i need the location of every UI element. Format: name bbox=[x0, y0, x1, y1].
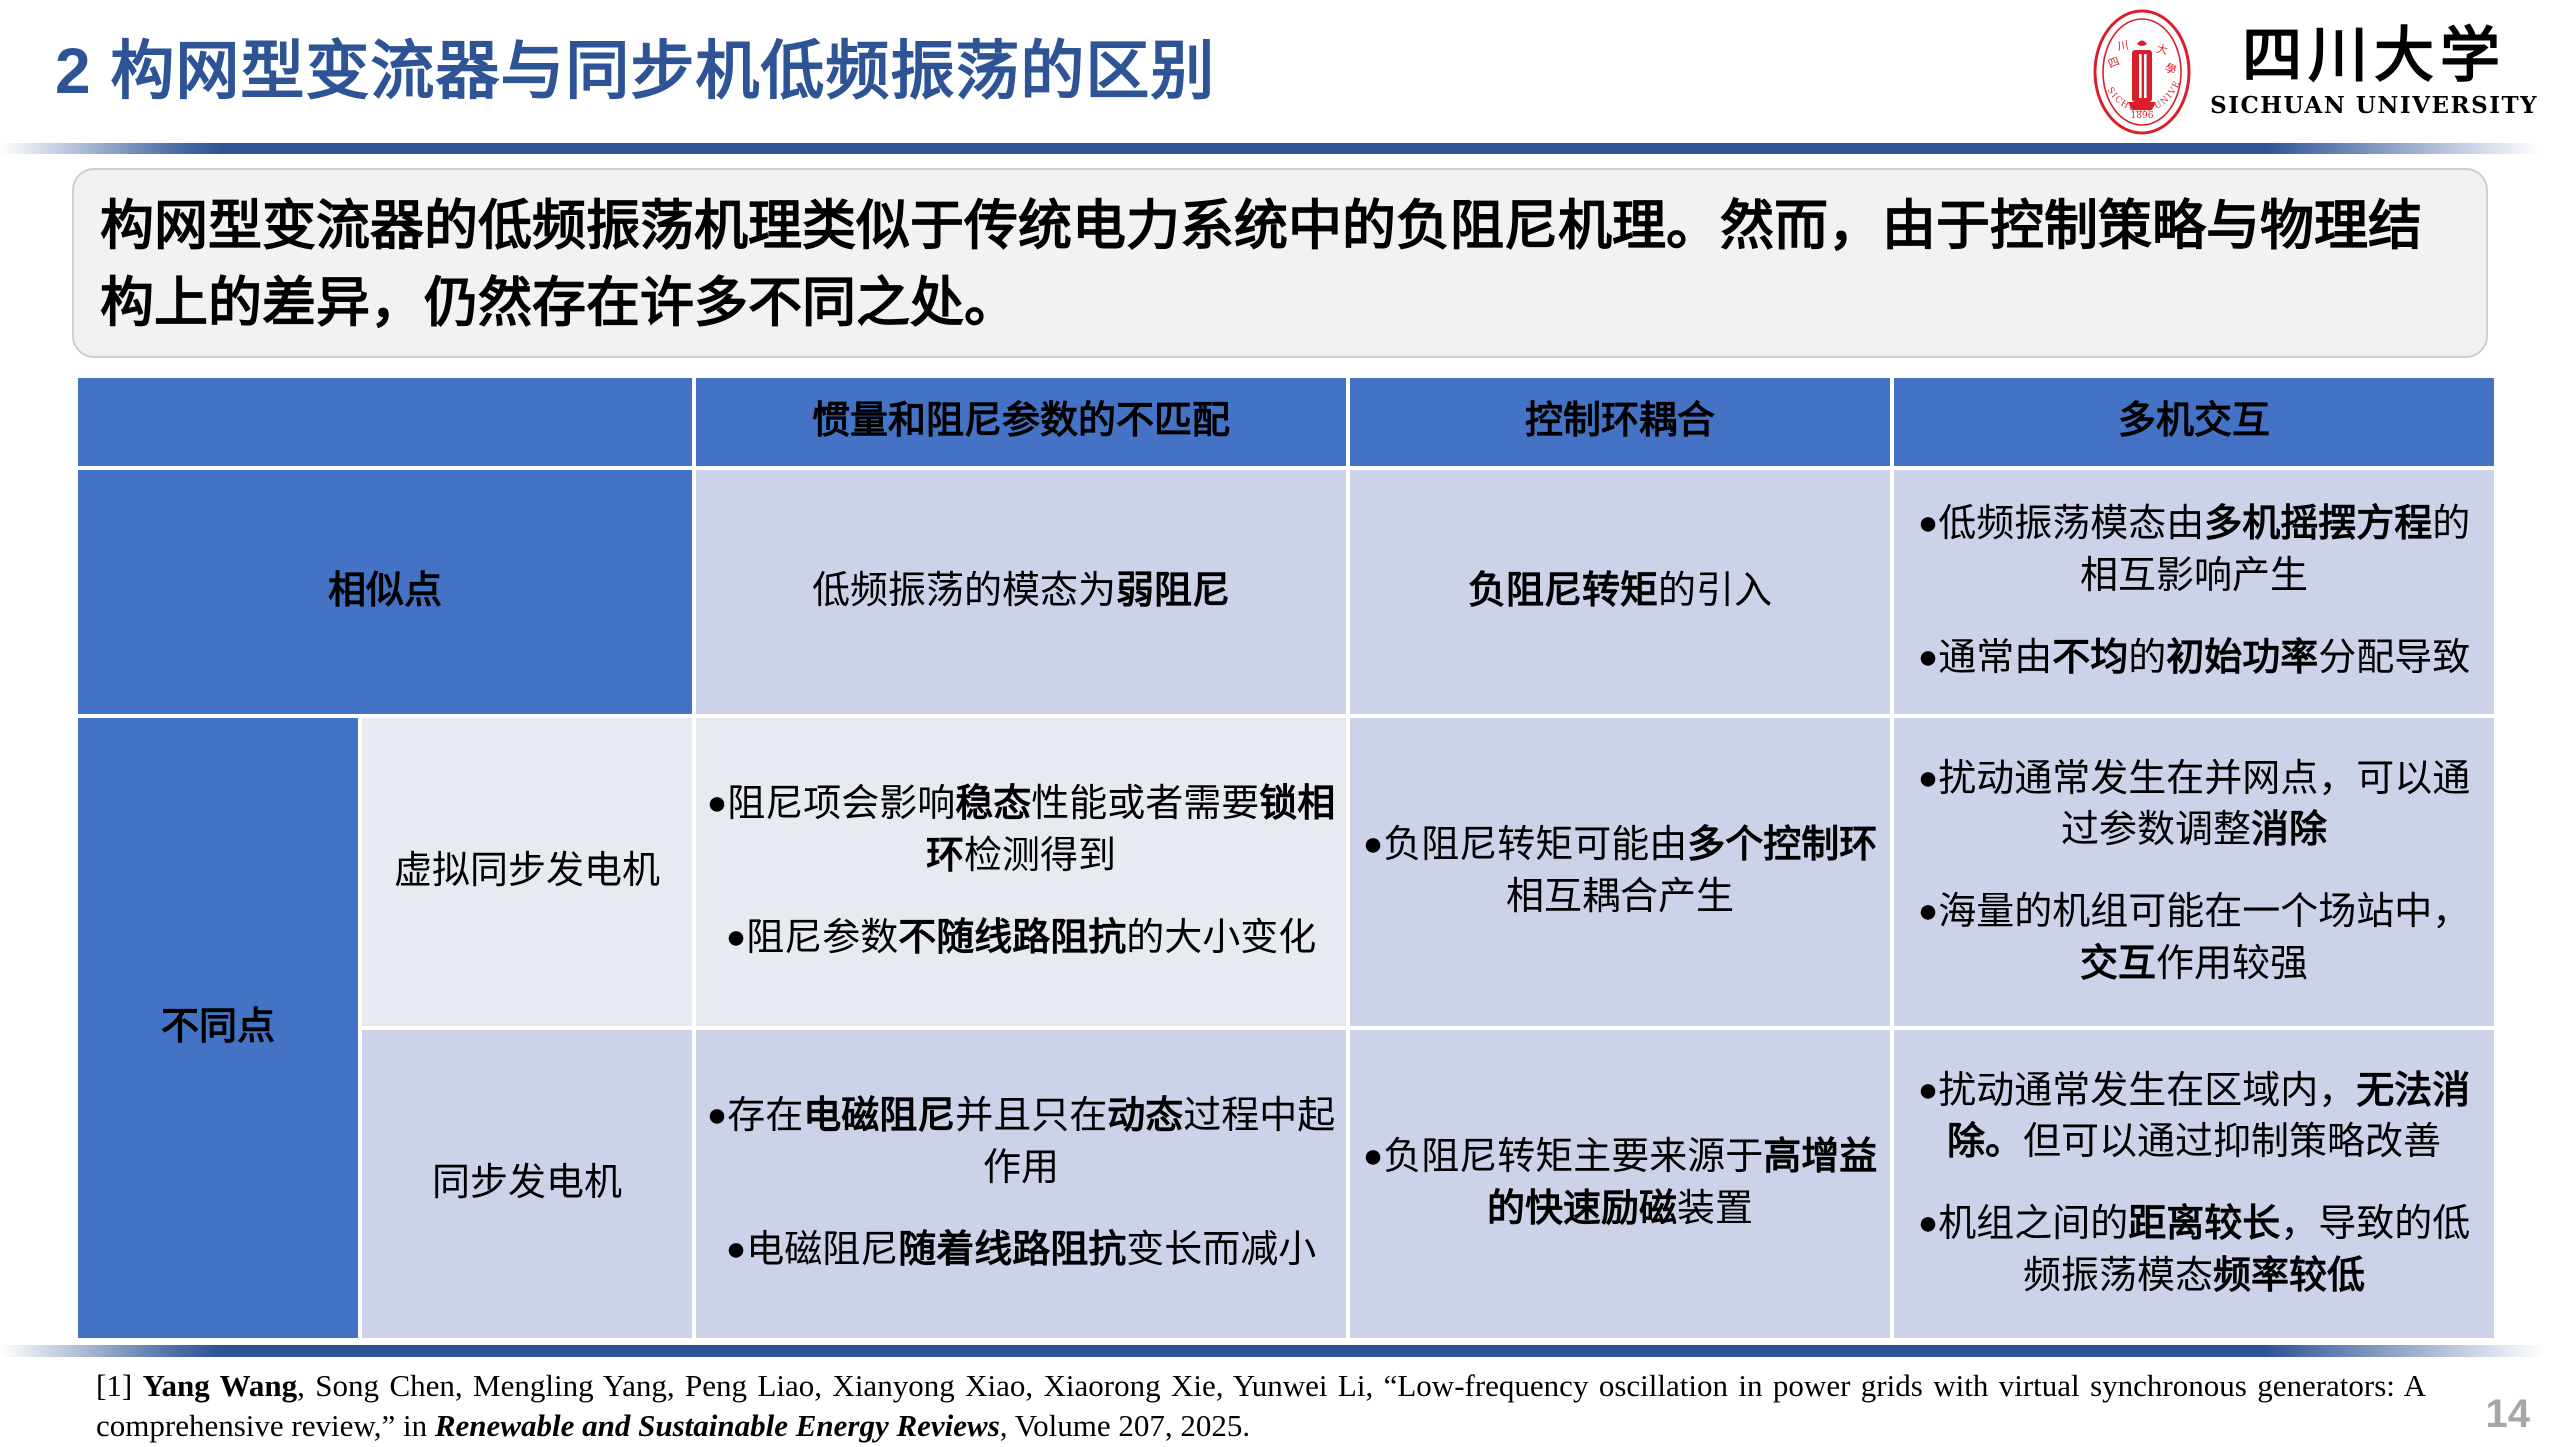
text-bold: 不随线路阻抗 bbox=[898, 917, 1126, 959]
text-plain: 通常由 bbox=[1938, 637, 2052, 679]
bullet-item: ●扰动通常发生在区域内，无法消除。但可以通过抑制策略改善 bbox=[1904, 1066, 2484, 1169]
bullet-dot-icon: ● bbox=[707, 784, 728, 822]
page-title: 2 构网型变流器与同步机低频振荡的区别 bbox=[55, 20, 1215, 112]
text-plain: 相互耦合产生 bbox=[1506, 876, 1734, 918]
text-plain: 变长而减小 bbox=[1126, 1229, 1316, 1271]
text-plain: 的大小变化 bbox=[1126, 917, 1316, 959]
text-bold: 动态 bbox=[1107, 1095, 1183, 1137]
text-plain: 扰动通常发生在区域内， bbox=[1938, 1070, 2356, 1112]
university-wordmark: 四川大学 SICHUAN UNIVERSITY bbox=[2210, 11, 2538, 133]
cell-similar-multi-machine: ●低频振荡模态由多机摇摆方程的相互影响产生 ●通常由不均的初始功率分配导致 bbox=[1894, 470, 2494, 714]
text-bold: 频率较低 bbox=[2213, 1255, 2365, 1297]
text-plain: 低频振荡的模态为 bbox=[812, 570, 1116, 612]
text-bold: 距离较长 bbox=[2128, 1203, 2280, 1245]
bullet-item: ●机组之间的距离较长，导致的低频振荡模态频率较低 bbox=[1904, 1199, 2484, 1302]
row-group-label-differences: 不同点 bbox=[78, 718, 358, 1338]
ref-volume-year: , Volume 207, 2025. bbox=[1000, 1408, 1250, 1443]
bullet-item: ●负阻尼转矩主要来源于高增益的快速励磁装置 bbox=[1360, 1132, 1880, 1235]
text-plain: 阻尼项会影响 bbox=[727, 783, 955, 825]
bullet-item: ●低频振荡模态由多机摇摆方程的相互影响产生 bbox=[1904, 499, 2484, 602]
bullet-dot-icon: ● bbox=[1918, 504, 1939, 542]
wordmark-english: SICHUAN UNIVERSITY bbox=[2210, 92, 2538, 119]
bullet-dot-icon: ● bbox=[1363, 825, 1384, 863]
university-logo: 四 川 大 學 1896 SICHUAN UNIVERSITY 四川大学 SIC… bbox=[2088, 8, 2538, 136]
bullet-item: ●阻尼项会影响稳态性能或者需要锁相环检测得到 bbox=[706, 779, 1336, 882]
cell-sg-inertia-damping: ●存在电磁阻尼并且只在动态过程中起作用 ●电磁阻尼随着线路阻抗变长而减小 bbox=[696, 1030, 1346, 1338]
table-row-similarities: 相似点 低频振荡的模态为弱阻尼 负阻尼转矩的引入 ●低频振荡模态由多机摇摆方程的… bbox=[78, 470, 2494, 714]
text-plain: 负阻尼转矩主要来源于 bbox=[1383, 1136, 1763, 1178]
column-header-multi-machine: 多机交互 bbox=[1894, 378, 2494, 466]
bullet-item: ●负阻尼转矩可能由多个控制环相互耦合产生 bbox=[1360, 820, 1880, 923]
text-bold: 初始功率 bbox=[2166, 637, 2318, 679]
row-group-label-similarities: 相似点 bbox=[78, 470, 692, 714]
svg-text:川: 川 bbox=[2117, 39, 2130, 53]
ref-first-author: Yang Wang bbox=[143, 1368, 298, 1403]
bullet-dot-icon: ● bbox=[726, 1230, 747, 1268]
text-plain: 存在 bbox=[727, 1095, 803, 1137]
cell-vsg-multi-machine: ●扰动通常发生在并网点，可以通过参数调整消除 ●海量的机组可能在一个场站中，交互… bbox=[1894, 718, 2494, 1026]
text-plain: 性能或者需要 bbox=[1031, 783, 1259, 825]
table-row-sg: 同步发电机 ●存在电磁阻尼并且只在动态过程中起作用 ●电磁阻尼随着线路阻抗变长而… bbox=[78, 1030, 2494, 1338]
slide-header: 2 构网型变流器与同步机低频振荡的区别 四 川 大 學 1896 SI bbox=[0, 0, 2560, 150]
text-plain: 负阻尼转矩可能由 bbox=[1383, 824, 1687, 866]
cell-vsg-control-coupling: ●负阻尼转矩可能由多个控制环相互耦合产生 bbox=[1350, 718, 1890, 1026]
text-plain: 但可以通过抑制策略改善 bbox=[2023, 1121, 2441, 1163]
bullet-item: ●扰动通常发生在并网点，可以通过参数调整消除 bbox=[1904, 754, 2484, 857]
row-label-sg: 同步发电机 bbox=[362, 1030, 692, 1338]
text-bold: 电磁阻尼 bbox=[803, 1095, 955, 1137]
table-header-row: 惯量和阻尼参数的不匹配 控制环耦合 多机交互 bbox=[78, 378, 2494, 466]
bullet-item: ●存在电磁阻尼并且只在动态过程中起作用 bbox=[706, 1091, 1336, 1194]
text-plain: 低频振荡模态由 bbox=[1938, 503, 2204, 545]
table-corner-cell bbox=[78, 378, 692, 466]
text-bold: 不均 bbox=[2052, 637, 2128, 679]
table-row-vsg: 不同点 虚拟同步发电机 ●阻尼项会影响稳态性能或者需要锁相环检测得到 ●阻尼参数… bbox=[78, 718, 2494, 1026]
bullet-dot-icon: ● bbox=[1918, 759, 1939, 797]
text-plain: 的引入 bbox=[1658, 570, 1772, 612]
row-label-vsg: 虚拟同步发电机 bbox=[362, 718, 692, 1026]
bullet-dot-icon: ● bbox=[1918, 1204, 1939, 1242]
svg-text:學: 學 bbox=[2163, 61, 2178, 77]
ref-index: [1] bbox=[96, 1368, 143, 1403]
callout-text: 构网型变流器的低频振荡机理类似于传统电力系统中的负阻尼机理。然而，由于控制策略与… bbox=[100, 188, 2460, 341]
cell-sg-multi-machine: ●扰动通常发生在区域内，无法消除。但可以通过抑制策略改善 ●机组之间的距离较长，… bbox=[1894, 1030, 2494, 1338]
svg-text:四: 四 bbox=[2106, 55, 2121, 71]
text-bold: 稳态 bbox=[955, 783, 1031, 825]
cell-similar-control-coupling: 负阻尼转矩的引入 bbox=[1350, 470, 1890, 714]
bullet-dot-icon: ● bbox=[1918, 1071, 1939, 1109]
bullet-item: ●通常由不均的初始功率分配导致 bbox=[1904, 633, 2484, 685]
column-header-control-coupling: 控制环耦合 bbox=[1350, 378, 1890, 466]
cell-similar-inertia-damping: 低频振荡的模态为弱阻尼 bbox=[696, 470, 1346, 714]
page-number: 14 bbox=[2486, 1392, 2531, 1437]
sichuan-university-seal-icon: 四 川 大 學 1896 SICHUAN UNIVERSITY bbox=[2088, 8, 2196, 136]
text-bold: 负阻尼转矩 bbox=[1468, 570, 1658, 612]
text-plain: 阻尼参数 bbox=[746, 917, 898, 959]
text-bold: 消除 bbox=[2251, 809, 2327, 851]
title-divider bbox=[0, 143, 2560, 154]
comparison-table: 惯量和阻尼参数的不匹配 控制环耦合 多机交互 相似点 低频振荡的模态为弱阻尼 负… bbox=[74, 374, 2498, 1342]
bullet-dot-icon: ● bbox=[1363, 1137, 1384, 1175]
text-bold: 随着线路阻抗 bbox=[898, 1229, 1126, 1271]
text-bold: 多个控制环 bbox=[1687, 824, 1877, 866]
bullet-dot-icon: ● bbox=[1918, 638, 1939, 676]
bullet-item: ●海量的机组可能在一个场站中，交互作用较强 bbox=[1904, 887, 2484, 990]
bullet-dot-icon: ● bbox=[1918, 892, 1939, 930]
reference-citation: [1] Yang Wang, Song Chen, Mengling Yang,… bbox=[96, 1366, 2426, 1447]
text-bold: 交互 bbox=[2080, 943, 2156, 985]
column-header-inertia-damping: 惯量和阻尼参数的不匹配 bbox=[696, 378, 1346, 466]
text-plain: 海量的机组可能在一个场站中， bbox=[1938, 891, 2470, 933]
ref-journal-name: Renewable and Sustainable Energy Reviews bbox=[435, 1408, 1000, 1443]
text-plain: 扰动通常发生在并网点，可以通过参数调整 bbox=[1938, 758, 2470, 852]
text-bold: 多机摇摆方程 bbox=[2204, 503, 2432, 545]
wordmark-chinese: 四川大学 bbox=[2242, 26, 2506, 86]
text-plain: 并且只在 bbox=[955, 1095, 1107, 1137]
summary-callout-box: 构网型变流器的低频振荡机理类似于传统电力系统中的负阻尼机理。然而，由于控制策略与… bbox=[72, 168, 2488, 358]
text-plain: 电磁阻尼 bbox=[746, 1229, 898, 1271]
cell-vsg-inertia-damping: ●阻尼项会影响稳态性能或者需要锁相环检测得到 ●阻尼参数不随线路阻抗的大小变化 bbox=[696, 718, 1346, 1026]
text-plain: 分配导致 bbox=[2318, 637, 2470, 679]
text-plain: 检测得到 bbox=[964, 835, 1116, 877]
bullet-dot-icon: ● bbox=[726, 918, 747, 956]
bullet-item: ●阻尼参数不随线路阻抗的大小变化 bbox=[706, 913, 1336, 965]
text-plain: 作用较强 bbox=[2156, 943, 2308, 985]
footer-divider bbox=[0, 1345, 2560, 1357]
bullet-dot-icon: ● bbox=[707, 1096, 728, 1134]
cell-sg-control-coupling: ●负阻尼转矩主要来源于高增益的快速励磁装置 bbox=[1350, 1030, 1890, 1338]
text-plain: 装置 bbox=[1677, 1188, 1753, 1230]
text-plain: 的 bbox=[2128, 637, 2166, 679]
text-plain: 机组之间的 bbox=[1938, 1203, 2128, 1245]
svg-text:大: 大 bbox=[2156, 41, 2170, 57]
text-bold: 弱阻尼 bbox=[1116, 570, 1230, 612]
bullet-item: ●电磁阻尼随着线路阻抗变长而减小 bbox=[706, 1225, 1336, 1277]
